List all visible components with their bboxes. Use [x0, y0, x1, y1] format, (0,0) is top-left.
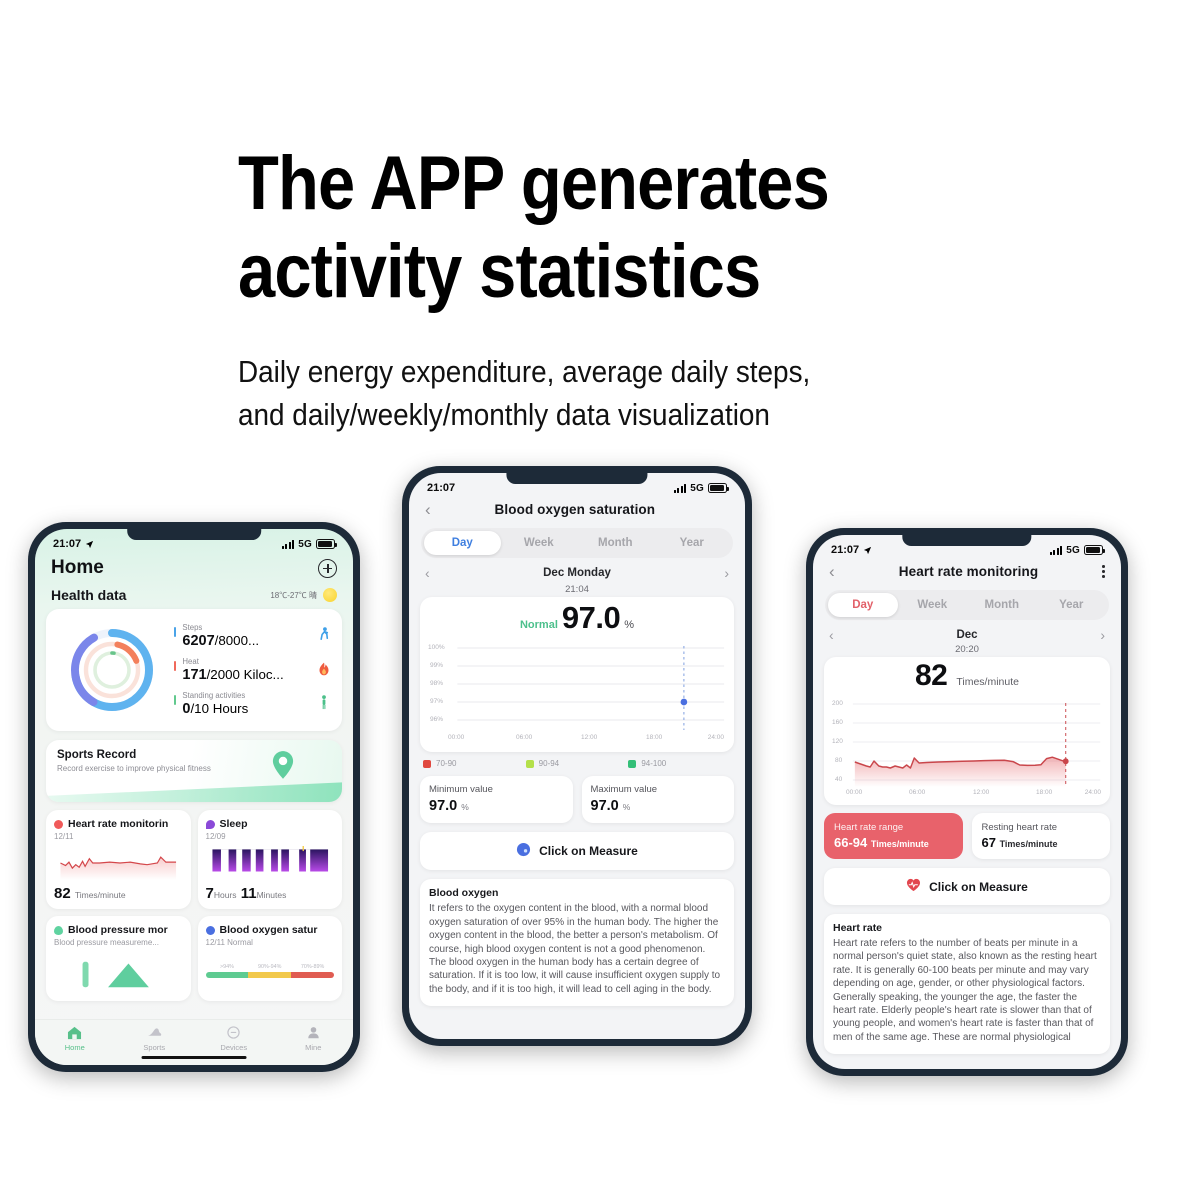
legend-item: 70-90	[423, 759, 526, 768]
legend-label: 94-100	[641, 759, 666, 768]
sun-icon	[323, 588, 337, 602]
description-title: Heart rate	[833, 922, 1101, 934]
heart-rate-description: Heart rate Heart rate refers to the numb…	[824, 914, 1110, 1054]
notch	[127, 529, 261, 540]
reading-header: 21:04	[409, 582, 745, 595]
stat-list: Steps 6207/8000... Heat 171/2000 Kiloc..…	[174, 618, 332, 722]
tab-month[interactable]: Month	[967, 593, 1037, 617]
blood-oxygen-description: Blood oxygen It refers to the oxygen con…	[420, 879, 734, 1006]
range-label: >94%	[206, 964, 249, 970]
metric-tile-grid: Heart rate monitorin 12/11 82 Times/minu…	[46, 810, 342, 1001]
nav-bar: ‹ Heart rate monitoring	[813, 559, 1121, 588]
tab-week[interactable]: Week	[501, 531, 578, 555]
promo-page: The APP generates activity statistics Da…	[0, 0, 1200, 1200]
page-title: Blood oxygen saturation	[495, 502, 656, 517]
tab-home[interactable]: Home	[35, 1025, 115, 1052]
date-navigator: ‹ Dec ›	[813, 620, 1121, 644]
stat-goal: /10 Hours	[190, 701, 248, 716]
tab-year[interactable]: Year	[1037, 593, 1107, 617]
tile-date: 12/09	[206, 832, 335, 841]
tab-label: Sports	[115, 1043, 195, 1052]
heart-rate-chart: 200 160 120 80 40 00:00 06:00 12:00 18:0…	[828, 695, 1106, 799]
page-title: Home	[51, 557, 104, 579]
range-label: Heart rate range	[834, 822, 953, 833]
battery-icon	[316, 539, 335, 549]
stat-standing: Standing activities 0/10 Hours	[174, 691, 332, 718]
phone-left: 21:07 5G Home Health data 18℃-27℃ 晴	[28, 522, 360, 1072]
tab-week[interactable]: Week	[898, 593, 968, 617]
tab-sports[interactable]: Sports	[115, 1025, 195, 1052]
y-tick: 97%	[430, 698, 443, 705]
tile-title: Heart rate monitorin	[68, 818, 168, 830]
tab-label: Mine	[274, 1043, 354, 1052]
minimum-value: 97.0 %	[429, 798, 564, 814]
reading-unit: Times/minute	[956, 676, 1019, 688]
subheadline-line-1: Daily energy expenditure, average daily …	[238, 350, 922, 393]
reading-status: Normal	[520, 619, 558, 631]
add-icon[interactable]	[318, 559, 337, 578]
reading-value: 97.0	[562, 600, 620, 636]
y-tick: 80	[835, 757, 842, 764]
tab-day[interactable]: Day	[828, 593, 898, 617]
location-arrow-icon	[85, 540, 94, 549]
maximum-label: Maximum value	[591, 784, 726, 796]
date-navigator: ‹ Dec Monday ›	[409, 558, 745, 582]
range-value: 66-94 Times/minute	[834, 835, 953, 850]
phone-middle-screen: 21:07 5G ‹ Blood oxygen saturation Day W…	[409, 473, 745, 1039]
signal-icon	[282, 540, 295, 549]
phone-left-screen: 21:07 5G Home Health data 18℃-27℃ 晴	[35, 529, 353, 1065]
tile-value: 82 Times/minute	[54, 885, 183, 902]
reading-time: 20:20	[813, 644, 1121, 655]
home-icon	[35, 1025, 115, 1040]
x-tick: 06:00	[909, 789, 925, 796]
period-segmented-control: Day Week Month Year	[421, 528, 733, 558]
range-label: 90%-94%	[248, 964, 291, 970]
heart-rate-chart-card: 82 Times/minute	[824, 657, 1110, 805]
status-time: 21:07	[427, 482, 455, 494]
x-tick: 18:00	[646, 734, 662, 741]
minimum-value-card: Minimum value 97.0 %	[420, 776, 573, 823]
tab-devices[interactable]: Devices	[194, 1025, 274, 1052]
stat-value: 6207	[182, 633, 214, 649]
headline-line-2: activity statistics	[238, 228, 907, 316]
tile-sleep[interactable]: Sleep 12/09 7Hours 11M	[198, 810, 343, 909]
activity-rings	[56, 618, 168, 722]
o2-range-bar	[206, 972, 335, 978]
stat-goal: /8000...	[215, 633, 259, 648]
x-tick: 18:00	[1036, 789, 1052, 796]
legend-label: 90-94	[539, 759, 559, 768]
stat-label: Heat	[182, 657, 310, 666]
spo2-chart-card: Normal 97.0 % 100% 99%	[420, 597, 734, 752]
legend-item: 94-100	[628, 759, 731, 768]
person-icon	[274, 1025, 354, 1040]
stat-bar	[174, 695, 176, 705]
network-label: 5G	[298, 539, 312, 550]
resting-value: 67 Times/minute	[982, 835, 1101, 850]
weather-label: 18℃-27℃ 晴	[270, 590, 317, 601]
next-date-button[interactable]: ›	[724, 566, 729, 580]
standing-icon	[316, 695, 332, 713]
range-label: 70%-89%	[291, 964, 334, 970]
tile-heart-rate[interactable]: Heart rate monitorin 12/11 82 Times/minu…	[46, 810, 191, 909]
battery-icon	[708, 483, 727, 493]
y-tick: 99%	[430, 662, 443, 669]
maximum-value-card: Maximum value 97.0 %	[582, 776, 735, 823]
health-data-row: Health data 18℃-27℃ 晴	[35, 581, 353, 609]
tab-mine[interactable]: Mine	[274, 1025, 354, 1052]
tab-label: Devices	[194, 1043, 274, 1052]
y-tick: 40	[835, 776, 842, 783]
tile-status: 12/11 Normal	[206, 938, 335, 947]
notch	[902, 535, 1031, 546]
tab-label: Home	[35, 1043, 115, 1052]
status-time: 21:07	[53, 538, 81, 550]
stat-heat: Heat 171/2000 Kiloc...	[174, 657, 332, 684]
phone-middle: 21:07 5G ‹ Blood oxygen saturation Day W…	[402, 466, 752, 1046]
measure-label: Click on Measure	[539, 844, 638, 858]
stat-bar	[174, 661, 176, 671]
heart-rate-stats-row: Heart rate range 66-94 Times/minute Rest…	[824, 813, 1110, 859]
network-label: 5G	[1066, 545, 1080, 556]
tile-date: 12/11	[54, 832, 183, 841]
y-tick: 98%	[430, 680, 443, 687]
home-header: Home	[35, 553, 353, 581]
network-label: 5G	[690, 483, 704, 494]
page-title: Heart rate monitoring	[899, 564, 1038, 579]
stat-value: 171	[182, 667, 206, 683]
y-tick: 200	[832, 700, 843, 707]
y-tick: 100%	[428, 644, 445, 651]
headline-block: The APP generates activity statistics Da…	[238, 140, 998, 436]
decorative-wave	[46, 782, 342, 802]
reading-header: 20:20	[813, 644, 1121, 655]
health-stats-card[interactable]: Steps 6207/8000... Heat 171/2000 Kiloc..…	[46, 609, 342, 731]
y-tick: 96%	[430, 716, 443, 723]
signal-icon	[1050, 546, 1063, 555]
walking-icon	[316, 627, 332, 645]
measure-label: Click on Measure	[929, 880, 1028, 894]
current-date-label: Dec Monday	[543, 567, 611, 579]
prev-date-button[interactable]: ‹	[425, 566, 430, 580]
stat-goal: /2000 Kiloc...	[207, 667, 284, 682]
stat-label: Steps	[182, 623, 310, 632]
location-arrow-icon	[863, 546, 872, 555]
minimum-label: Minimum value	[429, 784, 564, 796]
tile-blood-oxygen[interactable]: Blood oxygen satur 12/11 Normal >94% 90%…	[198, 916, 343, 1001]
period-segmented-control: Day Week Month Year	[825, 590, 1109, 620]
subheadline-line-2: and daily/weekly/monthly data visualizat…	[238, 393, 922, 436]
measure-button[interactable]: Click on Measure	[824, 868, 1110, 905]
phone-right: 21:07 5G ‹ Heart rate monitoring Day Wee…	[806, 528, 1128, 1076]
tile-sleep-chart	[206, 846, 335, 880]
flame-icon	[316, 662, 332, 679]
sports-record-card[interactable]: Sports Record Record exercise to improve…	[46, 740, 342, 802]
weather-widget: 18℃-27℃ 晴	[270, 588, 337, 602]
tile-subtitle: Blood pressure measureme...	[54, 938, 183, 947]
tile-title: Blood oxygen satur	[220, 924, 318, 936]
x-tick: 24:00	[708, 734, 724, 741]
current-date-label: Dec	[956, 629, 977, 641]
heart-icon	[54, 820, 63, 829]
y-tick: 120	[832, 738, 843, 745]
reading-value: 82	[915, 659, 947, 693]
tile-bp-chart	[54, 955, 183, 989]
map-pin-icon	[272, 750, 294, 780]
home-indicator	[142, 1056, 247, 1059]
tile-title: Sleep	[220, 818, 248, 830]
reading-value-row: Normal 97.0 %	[420, 600, 734, 636]
x-tick: 24:00	[1085, 789, 1101, 796]
legend-item: 90-94	[526, 759, 629, 768]
drop-icon	[54, 926, 63, 935]
description-body: It refers to the oxygen content in the b…	[429, 902, 725, 996]
moon-icon	[206, 820, 215, 829]
reading-unit: %	[624, 619, 634, 631]
chevron-left-icon[interactable]: ‹	[829, 563, 835, 580]
status-time: 21:07	[831, 544, 859, 556]
heart-rate-range-card: Heart rate range 66-94 Times/minute	[824, 813, 963, 859]
next-date-button[interactable]: ›	[1100, 628, 1105, 642]
tile-title: Blood pressure mor	[68, 924, 168, 936]
x-tick: 06:00	[516, 734, 532, 741]
spo2-chart: 100% 99% 98% 97% 96% 00:00 06:00 12:00 1…	[424, 638, 730, 746]
o2-range-labels: >94% 90%-94% 70%-89%	[206, 964, 335, 970]
resting-label: Resting heart rate	[982, 822, 1101, 833]
description-body: Heart rate refers to the number of beats…	[833, 937, 1101, 1044]
reading-time: 21:04	[409, 584, 745, 595]
o2-measure-icon	[516, 842, 531, 860]
watch-icon	[194, 1025, 274, 1040]
reading-value-row: 82 Times/minute	[824, 659, 1110, 693]
shoe-icon	[115, 1025, 195, 1040]
chevron-left-icon[interactable]: ‹	[425, 501, 431, 518]
tab-month[interactable]: Month	[577, 531, 654, 555]
heart-measure-icon	[906, 878, 921, 895]
tab-year[interactable]: Year	[654, 531, 731, 555]
headline-line-1: The APP generates	[238, 140, 907, 228]
tab-day[interactable]: Day	[424, 531, 501, 555]
battery-icon	[1084, 545, 1103, 555]
resting-heart-rate-card: Resting heart rate 67 Times/minute	[972, 813, 1111, 859]
kebab-menu-icon[interactable]	[1102, 565, 1105, 577]
spo2-legend: 70-90 90-94 94-100	[423, 759, 731, 768]
signal-icon	[674, 484, 687, 493]
stat-label: Standing activities	[182, 691, 310, 700]
prev-date-button[interactable]: ‹	[829, 628, 834, 642]
tile-heart-chart	[54, 846, 183, 880]
stat-steps: Steps 6207/8000...	[174, 623, 332, 650]
nav-bar: ‹ Blood oxygen saturation	[409, 497, 745, 526]
measure-button[interactable]: Click on Measure	[420, 832, 734, 870]
o2-icon	[206, 926, 215, 935]
y-tick: 160	[832, 719, 843, 726]
tile-blood-pressure[interactable]: Blood pressure mor Blood pressure measur…	[46, 916, 191, 1001]
stat-bar	[174, 627, 176, 637]
x-tick: 12:00	[973, 789, 989, 796]
x-tick: 00:00	[448, 734, 464, 741]
notch	[506, 473, 647, 484]
legend-label: 70-90	[436, 759, 456, 768]
tile-value: 7Hours 11Minutes	[206, 885, 335, 902]
maximum-value: 97.0 %	[591, 798, 726, 814]
x-tick: 12:00	[581, 734, 597, 741]
phone-right-screen: 21:07 5G ‹ Heart rate monitoring Day Wee…	[813, 535, 1121, 1069]
min-max-row: Minimum value 97.0 % Maximum value 97.0 …	[420, 776, 734, 823]
health-data-title: Health data	[51, 587, 126, 603]
description-title: Blood oxygen	[429, 887, 725, 899]
x-tick: 00:00	[846, 789, 862, 796]
